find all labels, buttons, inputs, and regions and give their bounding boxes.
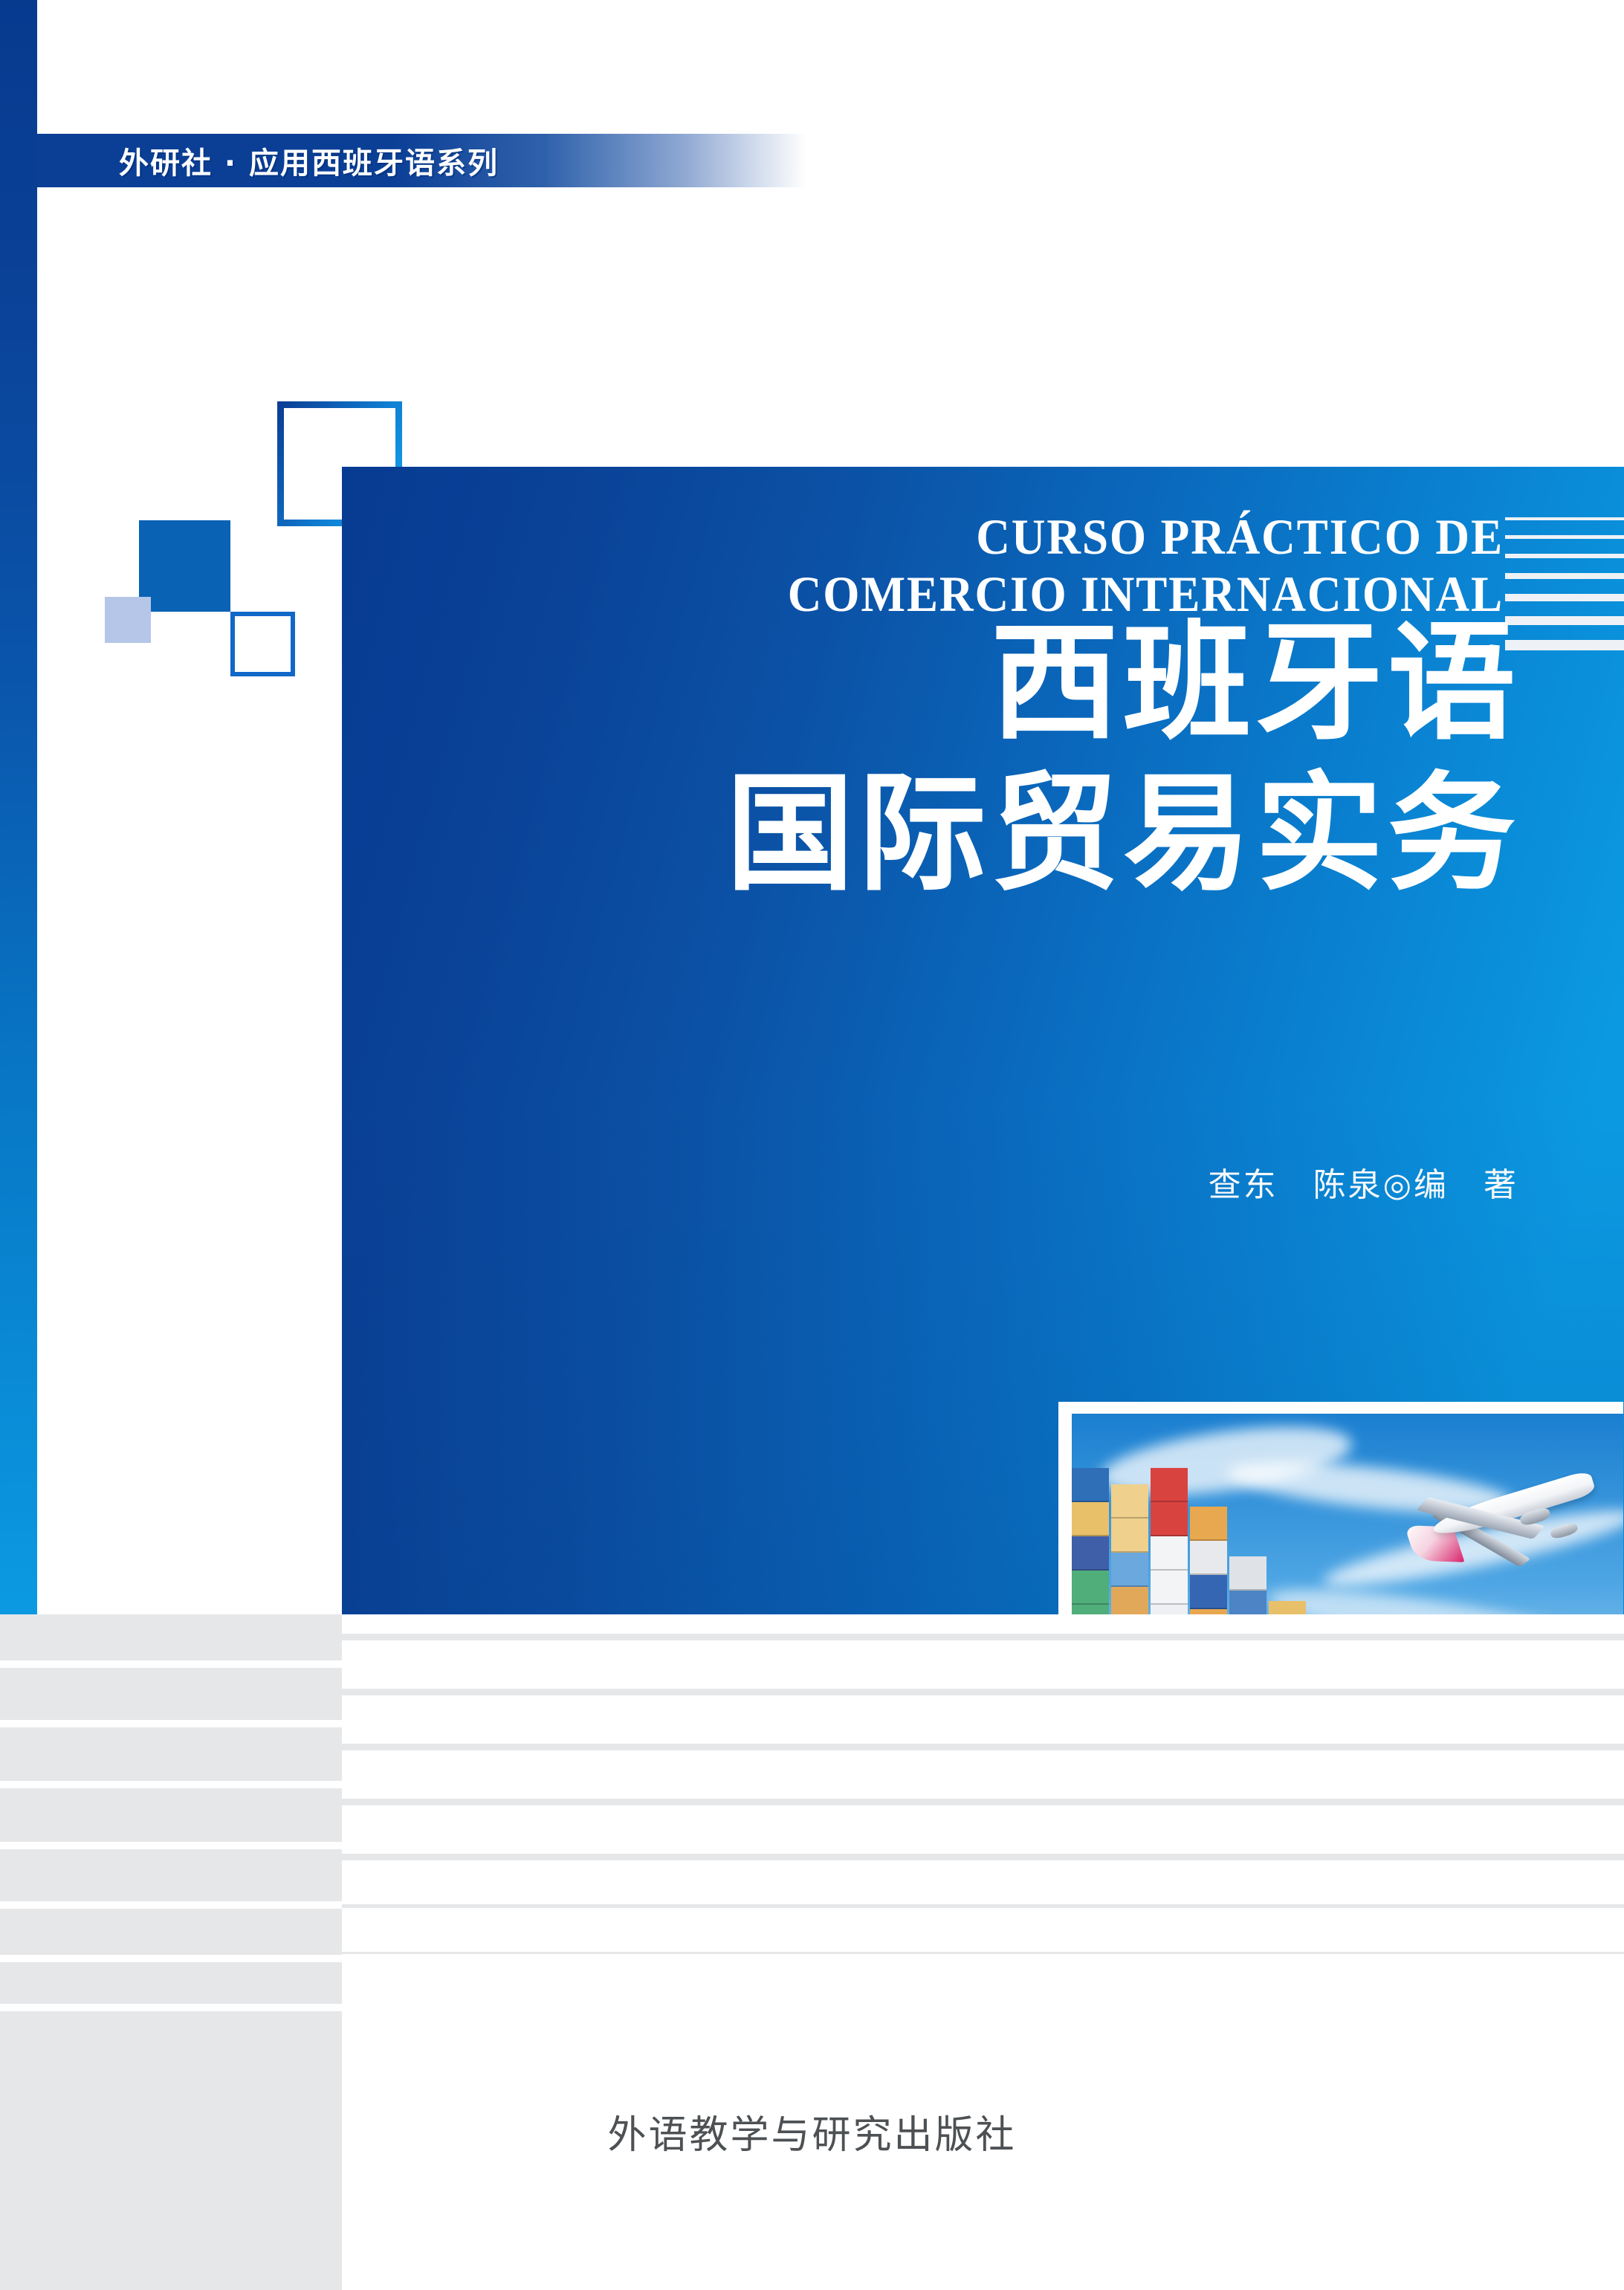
spanish-title: CURSO PRÁCTICO DE COMERCIO INTERNACIONAL bbox=[423, 511, 1504, 621]
spanish-title-line-1: CURSO PRÁCTICO DE bbox=[423, 511, 1504, 563]
gray-rule bbox=[342, 1904, 1624, 1908]
decorative-square-outline-small bbox=[230, 612, 295, 676]
decorative-square-pale bbox=[105, 597, 151, 643]
gray-rule bbox=[342, 1952, 1624, 1954]
rule-2 bbox=[1505, 535, 1624, 539]
book-cover: 外研社 · 应用西班牙语系列 CURSO PRÁCTICO DE COMERCI… bbox=[0, 0, 1624, 2290]
rule-1 bbox=[1505, 517, 1624, 520]
gray-rule bbox=[342, 1634, 1624, 1640]
gray-rule bbox=[342, 1689, 1624, 1695]
rule-7 bbox=[1505, 640, 1624, 650]
rule-3 bbox=[1505, 554, 1624, 558]
bottom-left-bands bbox=[0, 1614, 342, 2290]
gray-rule bbox=[342, 1854, 1624, 1860]
gray-band bbox=[0, 1962, 342, 2004]
left-spine-bar bbox=[0, 0, 37, 1614]
series-banner: 外研社 · 应用西班牙语系列 bbox=[37, 134, 806, 187]
chinese-title: 西班牙语 国际贸易实务 bbox=[342, 608, 1520, 910]
publisher-name: 外语教学与研究出版社 bbox=[0, 2103, 1624, 2159]
series-banner-label: 外研社 · 应用西班牙语系列 bbox=[119, 139, 499, 182]
gray-band bbox=[0, 1668, 342, 1720]
gray-rule bbox=[342, 1744, 1624, 1750]
gray-band bbox=[0, 1849, 342, 1901]
cargo-airplane bbox=[1370, 1467, 1602, 1611]
rule-5 bbox=[1505, 594, 1624, 601]
plane-engine bbox=[1549, 1521, 1579, 1541]
authors-line: 查东 陈泉◎编 著 bbox=[342, 1158, 1518, 1206]
rule-6 bbox=[1505, 616, 1624, 625]
chinese-title-line-1: 西班牙语 bbox=[342, 608, 1520, 759]
gray-rule bbox=[342, 1799, 1624, 1805]
chinese-title-line-2: 国际贸易实务 bbox=[342, 759, 1520, 910]
gray-band bbox=[0, 1788, 342, 1842]
rule-4 bbox=[1505, 573, 1624, 579]
decorative-square-solid bbox=[139, 520, 230, 612]
gray-band bbox=[0, 1727, 342, 1781]
gray-band bbox=[0, 1614, 342, 1660]
gray-band bbox=[0, 1909, 342, 1955]
bottom-right-lines bbox=[342, 1614, 1624, 2290]
decorative-rule-stack bbox=[1505, 517, 1624, 665]
